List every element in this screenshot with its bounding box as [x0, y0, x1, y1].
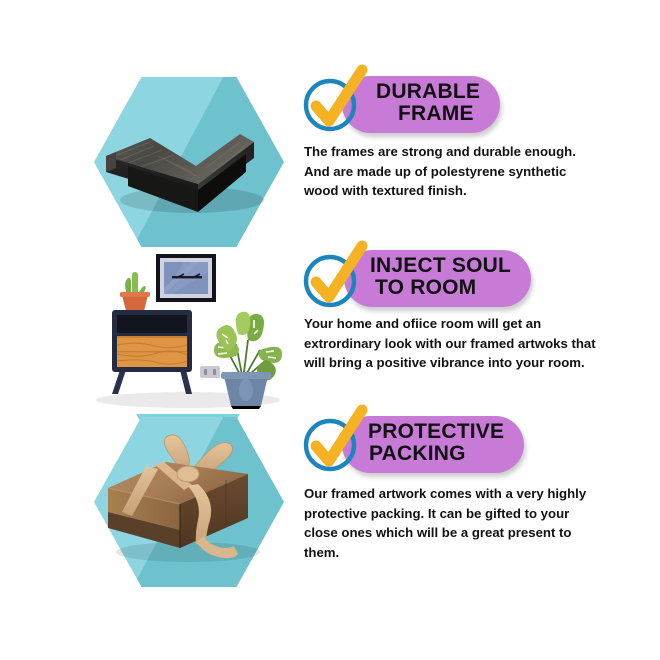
check-circle-icon: [302, 250, 364, 308]
title-line-2: PACKING: [368, 443, 504, 465]
feature-row-durable-frame: DURABLE FRAME The frames are strong and …: [0, 72, 660, 242]
cactus-plant: [120, 272, 150, 311]
feature-row-protective-packing: PROTECTIVE PACKING Our framed artwork co…: [0, 412, 660, 582]
living-room-scene-graphic: [88, 248, 288, 423]
feature-row-inject-soul-to-room: INJECT SOUL TO ROOM Your home and ofiice…: [0, 248, 660, 418]
infographic-poster: DURABLE FRAME The frames are strong and …: [0, 0, 660, 660]
title-line-1: INJECT SOUL: [370, 255, 511, 277]
body-text-protective-packing: Our framed artwork comes with a very hig…: [304, 484, 604, 563]
check-circle-icon: [302, 74, 364, 132]
text-column-durable-frame: DURABLE FRAME The frames are strong and …: [300, 72, 650, 247]
heading-strip: DURABLE FRAME: [300, 72, 650, 134]
monstera-plant: [214, 312, 282, 381]
heading-strip: PROTECTIVE PACKING: [300, 412, 650, 474]
gift-box-graphic: [88, 412, 288, 587]
title-line-2: TO ROOM: [370, 277, 511, 299]
title-line-1: PROTECTIVE: [368, 421, 504, 443]
cabinet: [112, 310, 192, 394]
check-circle-icon: [302, 414, 364, 472]
wall-frame: [156, 254, 216, 302]
body-text-durable-frame: The frames are strong and durable enough…: [304, 142, 594, 201]
heading-strip: INJECT SOUL TO ROOM: [300, 248, 650, 310]
title-pill-protective-packing: PROTECTIVE PACKING: [342, 416, 524, 473]
text-column-protective-packing: PROTECTIVE PACKING Our framed artwork co…: [300, 412, 650, 587]
illustration-wood-frame-corner: [88, 72, 288, 247]
title-line-2: FRAME: [368, 103, 480, 125]
wall-outlet: [200, 366, 220, 378]
text-column-inject-soul-to-room: INJECT SOUL TO ROOM Your home and ofiice…: [300, 248, 650, 423]
body-text-inject-soul-to-room: Your home and ofiice room will get an ex…: [304, 314, 604, 373]
illustration-gift-box: [88, 412, 288, 587]
title-line-1: DURABLE: [368, 81, 480, 103]
title-pill-inject-soul-to-room: INJECT SOUL TO ROOM: [344, 250, 531, 307]
title-pill-durable-frame: DURABLE FRAME: [342, 76, 500, 133]
illustration-living-room-scene: [88, 248, 288, 423]
wood-frame-corner-graphic: [88, 72, 288, 247]
